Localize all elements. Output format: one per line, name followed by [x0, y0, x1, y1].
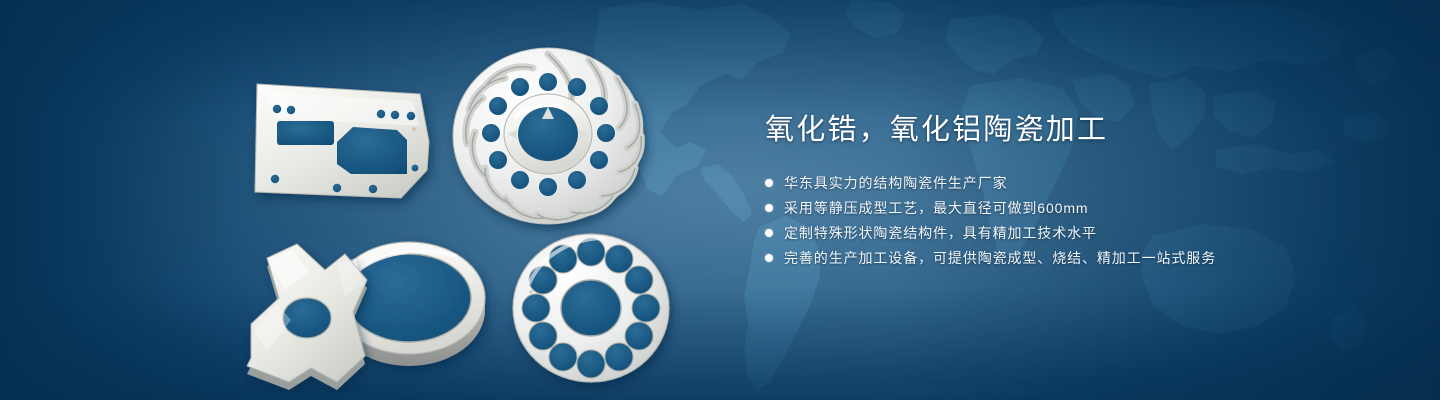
bullet-dot-icon: [765, 204, 773, 212]
feature-text: 完善的生产加工设备，可提供陶瓷成型、烧结、精加工一站式服务: [784, 247, 1216, 269]
banner-copy: 氧化锆，氧化铝陶瓷加工 华东具实力的结构陶瓷件生产厂家 采用等静压成型工艺，最大…: [765, 112, 1385, 272]
list-item: 华东具实力的结构陶瓷件生产厂家: [765, 172, 1385, 194]
page-title: 氧化锆，氧化铝陶瓷加工: [765, 112, 1385, 148]
bullet-dot-icon: [765, 254, 773, 262]
ceramic-perforated-disc: [513, 234, 669, 382]
list-item: 采用等静压成型工艺，最大直径可做到600mm: [765, 197, 1385, 219]
list-item: 完善的生产加工设备，可提供陶瓷成型、烧结、精加工一站式服务: [765, 247, 1385, 269]
ceramic-mounting-plate: [255, 84, 429, 198]
bullet-dot-icon: [765, 179, 773, 187]
feature-list: 华东具实力的结构陶瓷件生产厂家 采用等静压成型工艺，最大直径可做到600mm 定…: [765, 172, 1385, 269]
hero-banner: 氧化锆，氧化铝陶瓷加工 华东具实力的结构陶瓷件生产厂家 采用等静压成型工艺，最大…: [0, 0, 1440, 400]
list-item: 定制特殊形状陶瓷结构件，具有精加工技术水平: [765, 222, 1385, 244]
product-photo-cluster: [215, 22, 715, 392]
feature-text: 华东具实力的结构陶瓷件生产厂家: [784, 172, 1008, 194]
ceramic-impeller-disc: [453, 48, 643, 224]
bullet-dot-icon: [765, 229, 773, 237]
ceramic-cross-plate: [247, 244, 367, 390]
feature-text: 定制特殊形状陶瓷结构件，具有精加工技术水平: [784, 222, 1097, 244]
feature-text: 采用等静压成型工艺，最大直径可做到600mm: [784, 197, 1088, 219]
